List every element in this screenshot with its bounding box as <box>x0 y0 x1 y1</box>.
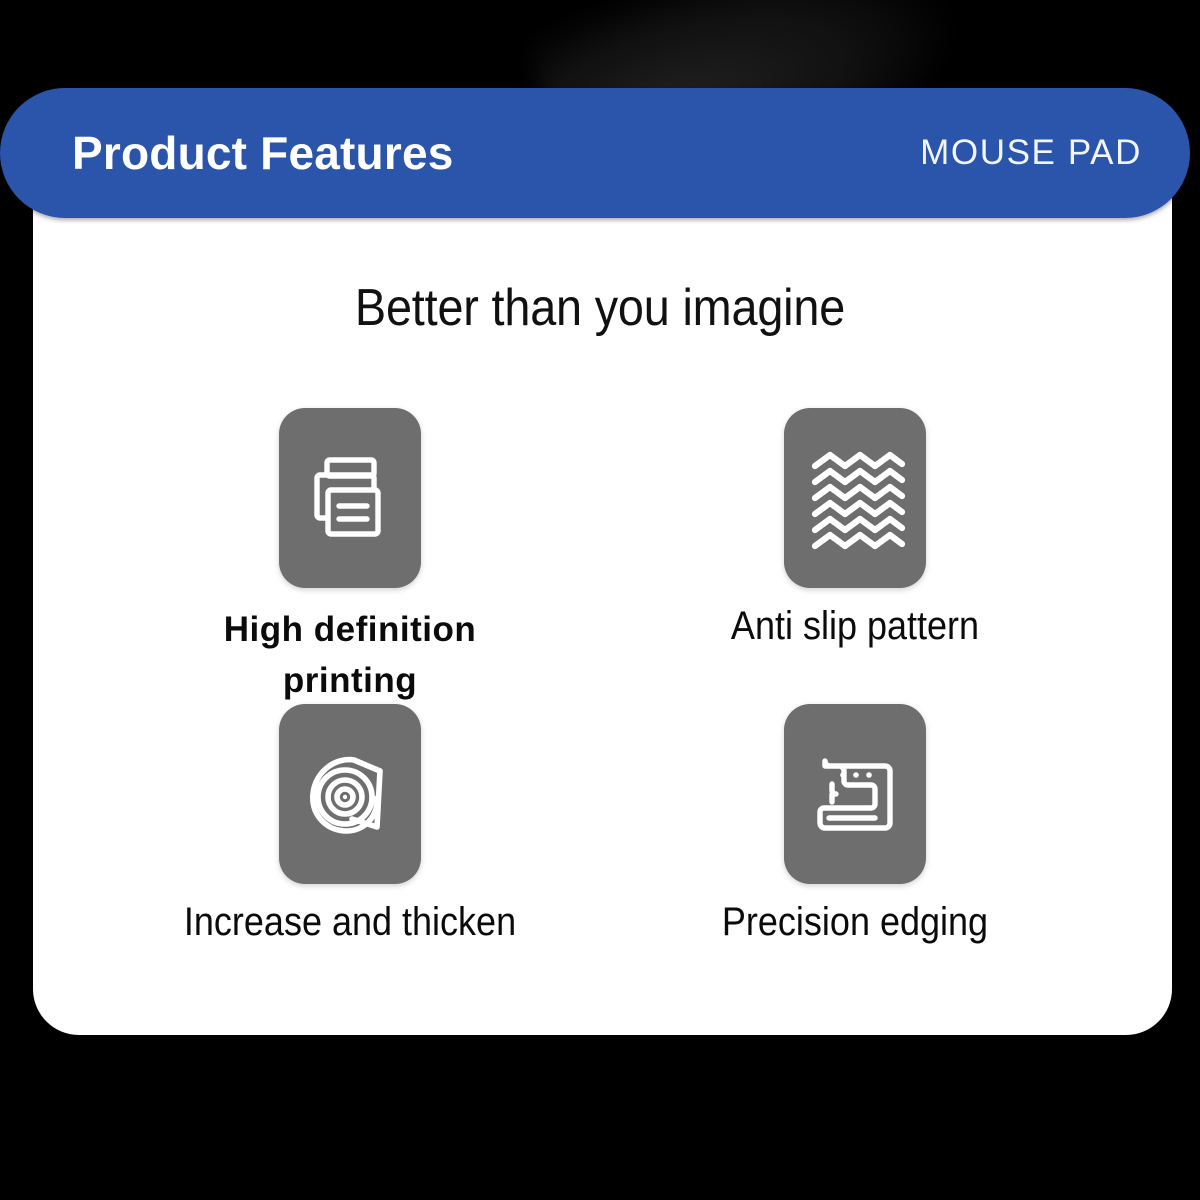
header-banner: Product Features MOUSE PAD <box>0 88 1190 218</box>
feature-label: High definition printing <box>190 605 510 707</box>
headline: Better than you imagine <box>60 278 1140 338</box>
feature-item-printing: High definition printing <box>100 408 600 707</box>
icon-tile-thickness <box>279 704 421 884</box>
product-category-label: MOUSE PAD <box>920 133 1142 173</box>
feature-label: Increase and thicken <box>125 901 575 943</box>
feature-item-thickness: Increase and thicken <box>100 704 600 943</box>
icon-tile-printing <box>279 408 421 588</box>
feature-label: Precision edging <box>630 901 1080 943</box>
feature-label: Anti slip pattern <box>630 605 1080 647</box>
feature-item-antislip: Anti slip pattern <box>605 408 1105 647</box>
feature-grid: High definition printing <box>80 408 1125 998</box>
icon-tile-edging <box>784 704 926 884</box>
icon-tile-antislip <box>784 408 926 588</box>
herringbone-pattern-icon <box>803 442 907 554</box>
printer-icon <box>298 446 402 550</box>
material-roll-icon <box>297 741 403 847</box>
sewing-machine-icon <box>803 742 907 846</box>
feature-item-edging: Precision edging <box>605 704 1105 943</box>
page-title: Product Features <box>72 126 454 180</box>
